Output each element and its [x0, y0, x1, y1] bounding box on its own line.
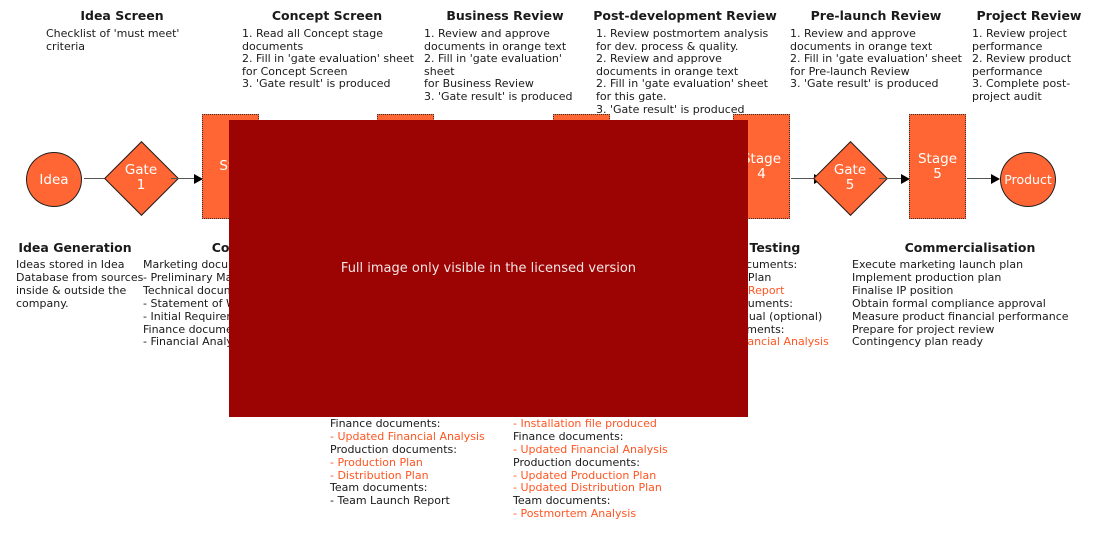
stage-doc-line: - Updated Financial Analysis	[513, 444, 703, 457]
gate-step: 2. Fill in 'gate evaluation' sheet	[242, 53, 422, 66]
gate-step: 2. Review and approve	[596, 53, 780, 66]
stage-doc-line: Measure product financial performance	[852, 311, 1090, 324]
gate-column-business-review: Business Review 1. Review and approve do…	[416, 8, 594, 104]
node-stage-5[interactable]: Stage 5	[909, 114, 966, 219]
stage-doc-line: Finalise IP position	[852, 285, 1090, 298]
stage-doc-line: Implement production plan	[852, 272, 1090, 285]
stage-column-testing-tail: - User Help files - Installation file pr…	[513, 405, 703, 521]
gate-step: 3. 'Gate result' is produced	[790, 78, 968, 91]
arrow-stage5-to-product	[967, 174, 1000, 183]
stage-doc-line: company.	[16, 298, 140, 311]
stage-gate-diagram: Idea Screen Checklist of 'must meet' cri…	[0, 0, 1097, 537]
node-label-line1: Stage	[918, 152, 957, 167]
gate-steps: 1. Review and approve documents in orang…	[416, 28, 594, 104]
gate-column-idea-screen: Idea Screen Checklist of 'must meet' cri…	[32, 8, 212, 53]
gate-step: 1. Review postmortem analysis	[596, 28, 780, 41]
node-label-line2: 5	[918, 167, 957, 182]
node-label-line2: 5	[834, 178, 866, 193]
stage-doc-line: Obtain formal compliance approval	[852, 298, 1090, 311]
stage-doc-line: - Updated Financial Analysis	[330, 431, 510, 444]
gate-steps: 1. Review postmortem analysis for dev. p…	[590, 28, 780, 116]
node-label-line2: 1	[125, 178, 157, 193]
gate-step: 1. Review project	[972, 28, 1094, 41]
gate-title: Concept Screen	[232, 8, 422, 23]
stage-doc-line: Ideas stored in Idea	[16, 259, 140, 272]
gate-steps: Checklist of 'must meet' criteria	[32, 28, 212, 53]
node-label: Idea	[39, 172, 68, 188]
gate-steps: 1. Review project performance 2. Review …	[964, 28, 1094, 104]
stage-doc-line: Execute marketing launch plan	[852, 259, 1090, 272]
gate-title: Post-development Review	[590, 8, 780, 23]
gate-step: for this gate.	[596, 91, 780, 104]
gate-title: Pre-launch Review	[784, 8, 968, 23]
stage-column-idea-generation: Idea Generation Ideas stored in Idea Dat…	[10, 240, 140, 311]
gate-step: 2. Fill in 'gate evaluation' sheet	[790, 53, 968, 66]
gate-step: criteria	[46, 41, 212, 54]
stage-doc-line: Database from sources	[16, 272, 140, 285]
node-gate-1[interactable]: Gate 1	[104, 126, 178, 230]
gate-step: 3. 'Gate result' is produced	[424, 91, 594, 104]
gate-step: project audit	[972, 91, 1094, 104]
gate-title: Project Review	[964, 8, 1094, 23]
node-label: Gate 1	[104, 126, 178, 230]
stage-doc-line: Production documents:	[513, 457, 703, 470]
gate-steps: 1. Review and approve documents in orang…	[784, 28, 968, 91]
stage-doc-line: - Installation file produced	[513, 418, 703, 431]
stage-column-commercialisation: Commercialisation Execute marketing laun…	[850, 240, 1090, 349]
node-gate-5[interactable]: Gate 5	[813, 126, 887, 230]
gate-steps: 1. Read all Concept stage documents 2. F…	[232, 28, 422, 91]
gate-step: 1. Review and approve	[424, 28, 594, 41]
stage-body: - User Help files - Installation file pr…	[513, 405, 703, 521]
stage-body: Ideas stored in Idea Database from sourc…	[10, 259, 140, 311]
gate-step: Checklist of 'must meet'	[46, 28, 212, 41]
gate-title: Business Review	[416, 8, 594, 23]
stage-doc-line: - Production Plan	[330, 457, 510, 470]
gate-step: 1. Review and approve	[790, 28, 968, 41]
gate-column-project-review: Project Review 1. Review project perform…	[964, 8, 1094, 104]
gate-column-pre-launch-review: Pre-launch Review 1. Review and approve …	[784, 8, 968, 91]
watermark-text: Full image only visible in the licensed …	[341, 261, 636, 276]
gate-title: Idea Screen	[32, 8, 212, 23]
gate-column-post-development-review: Post-development Review 1. Review postmo…	[590, 8, 780, 116]
node-product[interactable]: Product	[1000, 152, 1056, 207]
stage-body: Execute marketing launch plan Implement …	[850, 259, 1090, 349]
gate-step: 1. Read all Concept stage	[242, 28, 422, 41]
node-label: Product	[1004, 172, 1051, 187]
node-label-line1: Gate	[125, 163, 157, 178]
stage-doc-line: Contingency plan ready	[852, 336, 1090, 349]
gate-step: 2. Review product	[972, 53, 1094, 66]
stage-doc-line: Production documents:	[330, 444, 510, 457]
stage-title: Commercialisation	[850, 240, 1090, 255]
stage-body: Management Plan) Finance documents: - Up…	[330, 405, 510, 508]
gate-column-concept-screen: Concept Screen 1. Read all Concept stage…	[232, 8, 422, 91]
stage-title: Idea Generation	[10, 240, 140, 255]
stage-doc-line: Finance documents:	[330, 418, 510, 431]
stage-doc-line: inside & outside the	[16, 285, 140, 298]
stage-column-development-tail: Management Plan) Finance documents: - Up…	[330, 405, 510, 508]
stage-doc-line: - Postmortem Analysis	[513, 508, 703, 521]
node-idea[interactable]: Idea	[26, 152, 82, 207]
licensed-version-watermark: Full image only visible in the licensed …	[229, 120, 748, 417]
stage-doc-line: Finance documents:	[513, 431, 703, 444]
stage-doc-line: - Team Launch Report	[330, 495, 510, 508]
node-label: Gate 5	[813, 126, 887, 230]
gate-step: 3. 'Gate result' is produced	[242, 78, 422, 91]
arrow-gate5-to-stage5	[879, 174, 910, 183]
gate-step: 2. Fill in 'gate evaluation' sheet	[424, 53, 594, 78]
arrow-gate1-to-stage1	[171, 174, 203, 183]
node-label-line1: Gate	[834, 163, 866, 178]
